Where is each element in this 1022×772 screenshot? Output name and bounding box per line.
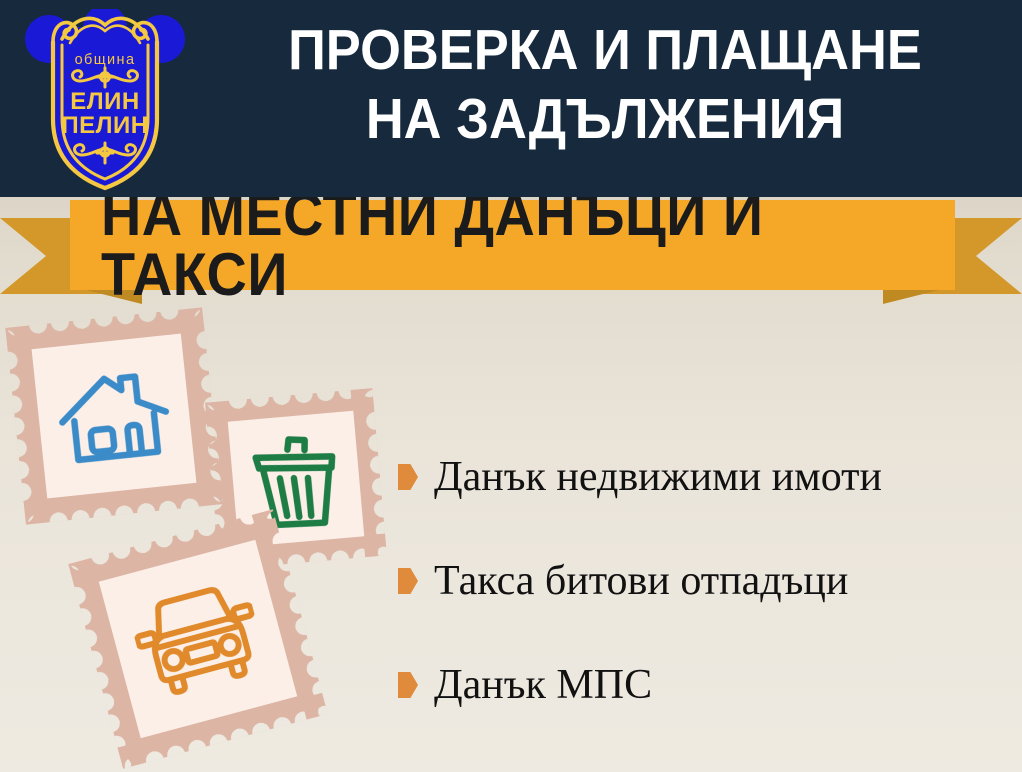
stamp-card-property <box>5 307 223 525</box>
page-title: ПРОВЕРКА И ПЛАЩАНЕ НА ЗАДЪЛЖЕНИЯ <box>229 16 982 154</box>
list-item[interactable]: Такса битови отпадъци <box>398 529 1008 633</box>
bullet-arrow-icon <box>398 672 418 698</box>
bullet-arrow-icon <box>398 464 418 490</box>
list-item-label: Данък недвижими имоти <box>434 454 882 500</box>
list-item-label: Такса битови отпадъци <box>434 558 848 604</box>
list-item[interactable]: Данък МПС <box>398 633 1008 737</box>
bullet-arrow-icon <box>398 568 418 594</box>
municipality-logo: община ЕЛИН ПЕЛИН <box>22 9 188 191</box>
ribbon-label: НА МЕСТНИ ДАНЪЦИ И ТАКСИ <box>101 185 924 305</box>
list-item-label: Данък МПС <box>434 662 652 708</box>
logo-small-text: община <box>75 52 136 68</box>
list-item[interactable]: Данък недвижими имоти <box>398 425 1008 529</box>
tax-type-list: Данък недвижими имоти Такса битови отпад… <box>398 425 1008 737</box>
house-icon <box>5 307 223 525</box>
logo-main-text-2: ПЕЛИН <box>61 112 148 139</box>
ribbon-banner: НА МЕСТНИ ДАНЪЦИ И ТАКСИ <box>0 196 1022 306</box>
logo-main-text-1: ЕЛИН <box>70 88 139 115</box>
ribbon-body: НА МЕСТНИ ДАНЪЦИ И ТАКСИ <box>70 200 955 290</box>
poster-canvas: ПРОВЕРКА И ПЛАЩАНЕ НА ЗАДЪЛЖЕНИЯ община <box>0 0 1022 772</box>
